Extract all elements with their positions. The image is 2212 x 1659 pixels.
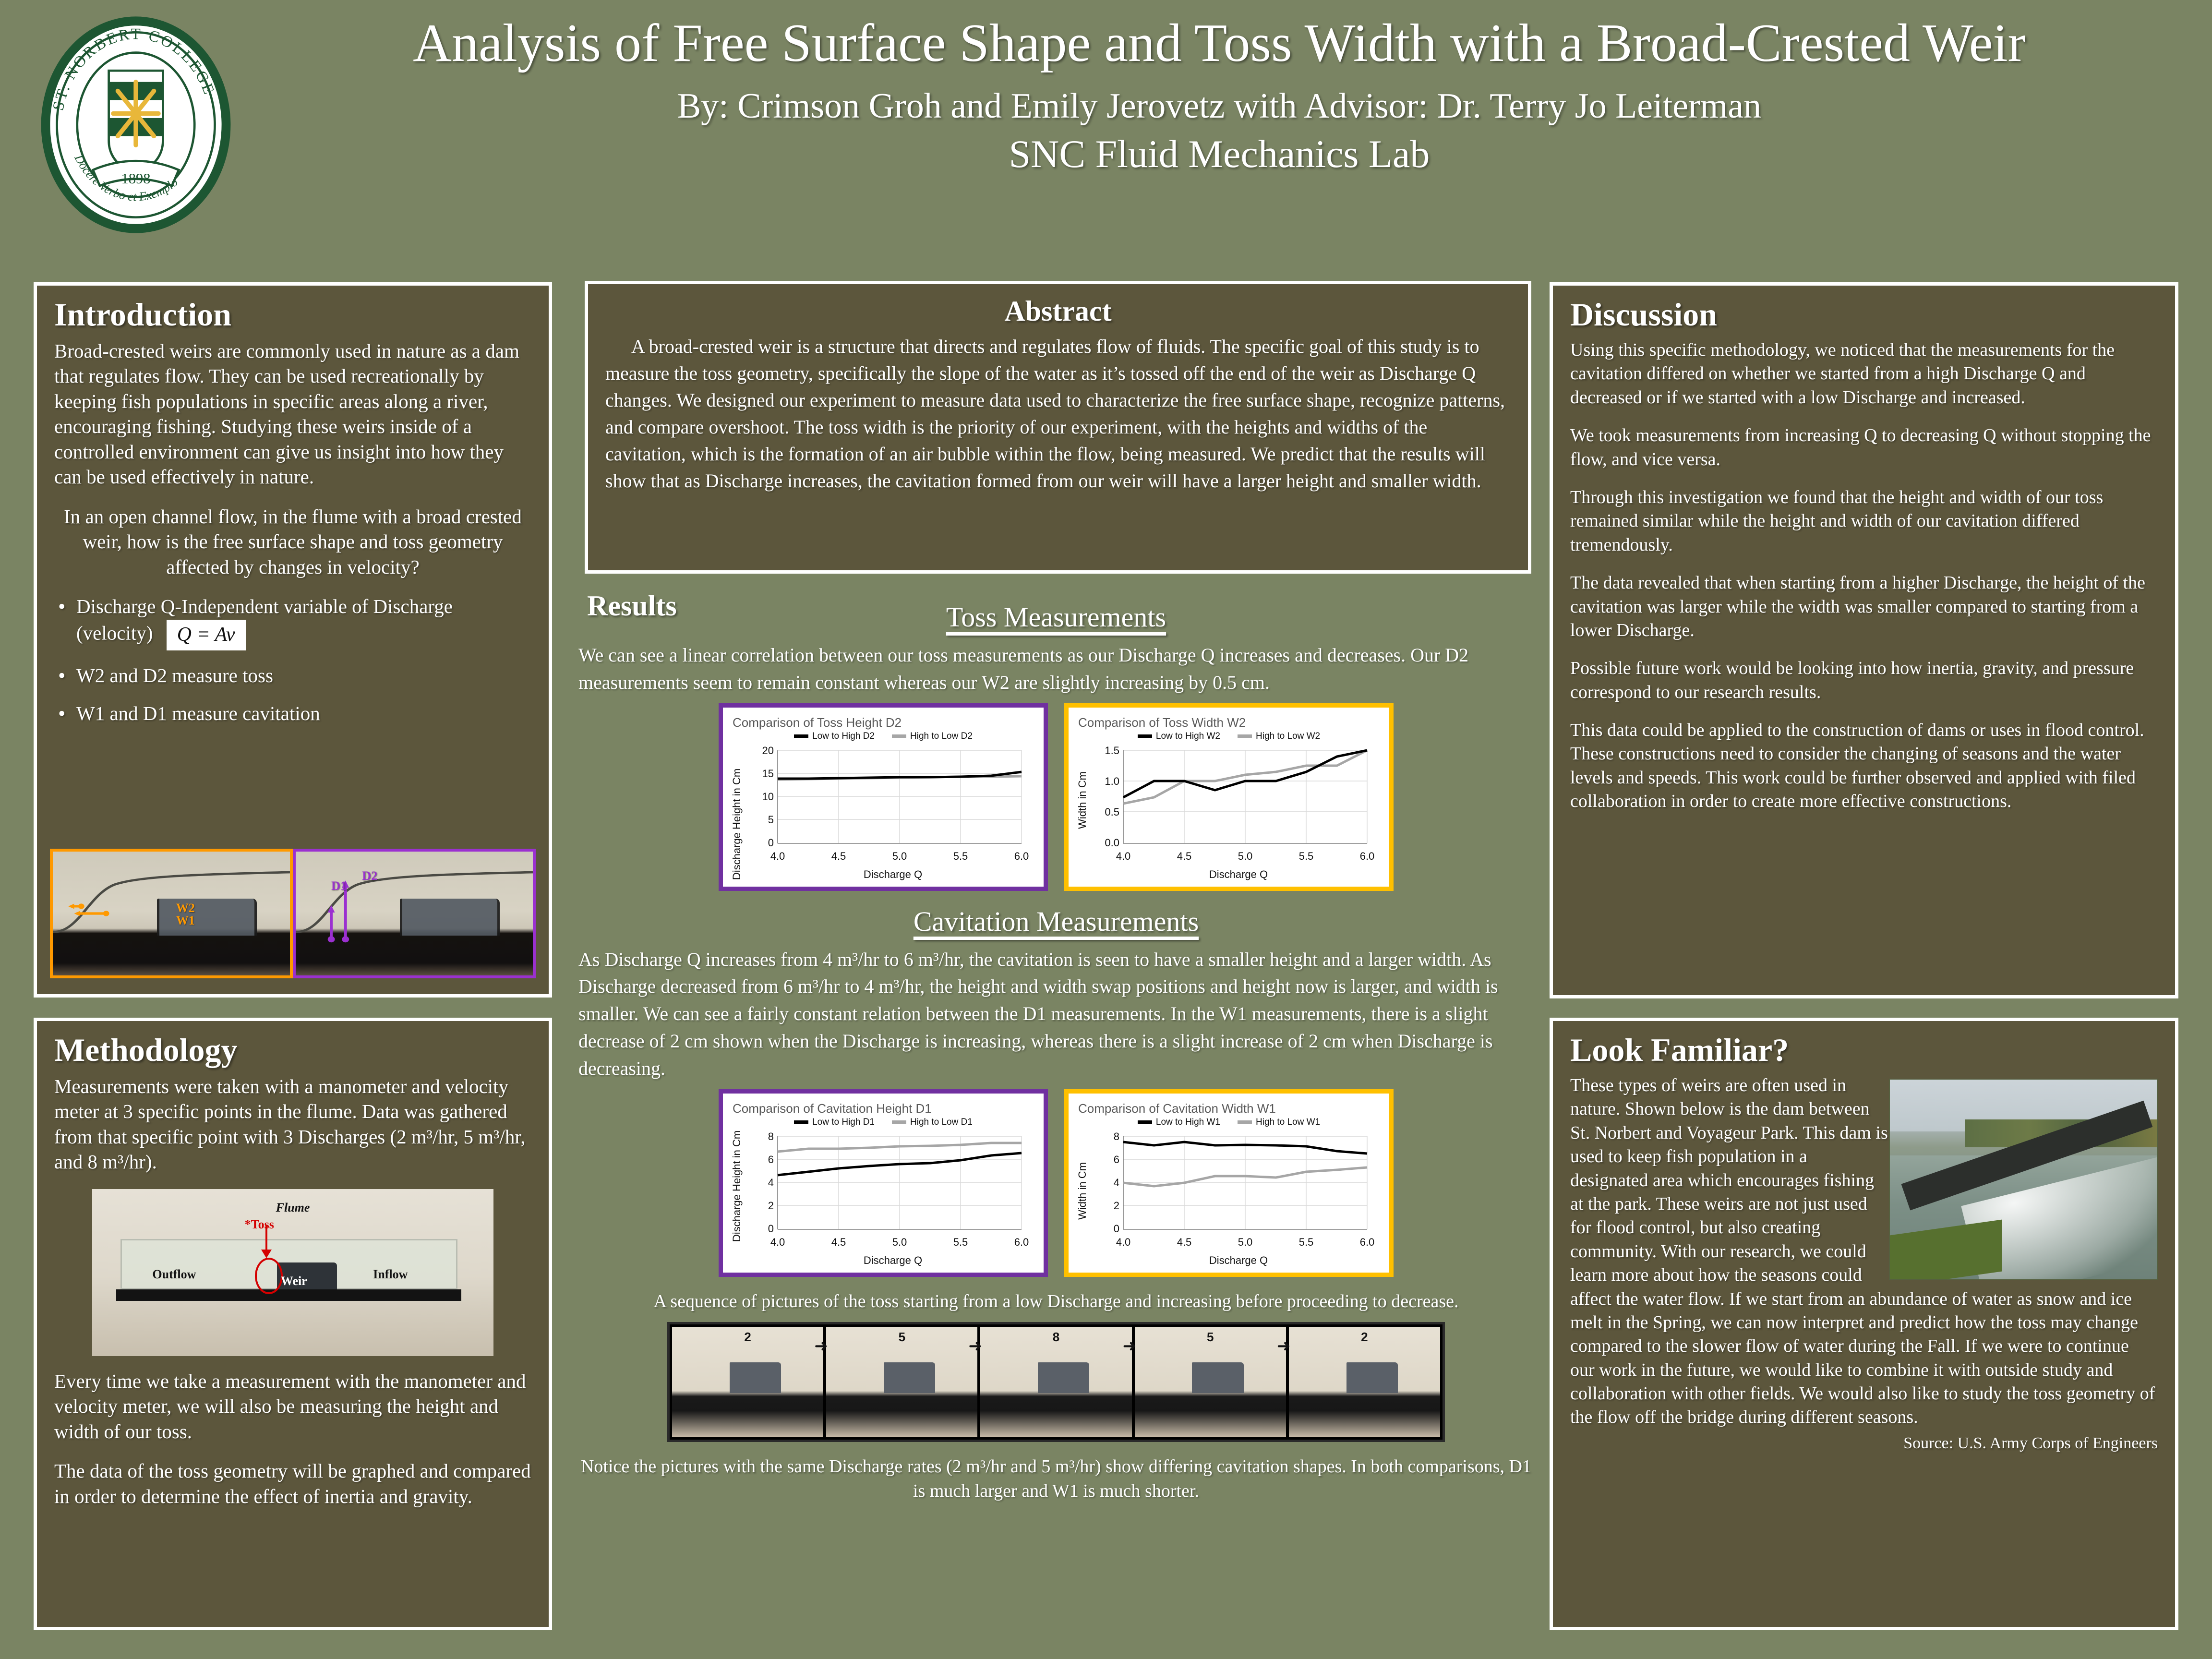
photo-strip-caption-bottom: Notice the pictures with the same Discha… bbox=[578, 1455, 1534, 1503]
discussion-panel: Discussion Using this specific methodolo… bbox=[1550, 282, 2178, 998]
chart-plot-area: Discharge Height in Cm Discharge Q 20 15… bbox=[730, 743, 1037, 882]
chart-toss-height-d2: Comparison of Toss Height D2 Low to High… bbox=[719, 703, 1048, 891]
strip-frame-discharge: 8 bbox=[1053, 1330, 1059, 1345]
weir-photo-height-annotated: D1 D2 bbox=[293, 849, 536, 978]
x-tick-50: 5.0 bbox=[1238, 850, 1253, 862]
legend-swatch-gray bbox=[892, 734, 906, 738]
legend-swatch-gray bbox=[892, 1120, 906, 1124]
legend-label: High to Low D2 bbox=[910, 731, 973, 741]
y-tick-0: 0 bbox=[768, 1223, 774, 1235]
results-label: Results bbox=[587, 589, 677, 623]
page-title: Analysis of Free Surface Shape and Toss … bbox=[269, 14, 2170, 72]
chart-cavitation-width-w1: Comparison of Cavitation Width W1 Low to… bbox=[1064, 1089, 1394, 1277]
college-seal-icon: 1898 ST. NORBERT COLLEGE Docere Verbo et… bbox=[23, 12, 249, 238]
width-arrow-annotations bbox=[53, 852, 290, 975]
chart-legend: Low to High W2 High to Low W2 bbox=[1075, 731, 1382, 742]
discussion-paragraph-6: This data could be applied to the constr… bbox=[1570, 719, 2158, 814]
methodology-heading: Methodology bbox=[54, 1034, 531, 1066]
toss-measurements-heading: Toss Measurements bbox=[578, 601, 1534, 633]
legend-item-low-to-high: Low to High D1 bbox=[794, 1117, 875, 1128]
arrow-right-icon: ➜ bbox=[1277, 1336, 1291, 1356]
toss-sequence-photo-strip: 2 ➜ 5 ➜ 8 ➜ 5 bbox=[667, 1322, 1445, 1442]
discharge-equation: Q = Av bbox=[167, 620, 246, 651]
abstract-panel: Abstract A broad-crested weir is a struc… bbox=[585, 281, 1531, 574]
flume-apparatus-photo: Flume *Toss Outflow Inflow Weir bbox=[92, 1189, 493, 1356]
y-tick-5: 5 bbox=[768, 814, 774, 826]
strip-frame-discharge: 5 bbox=[899, 1330, 905, 1345]
x-tick-50: 5.0 bbox=[892, 1236, 907, 1248]
introduction-heading: Introduction bbox=[54, 298, 531, 331]
look-familiar-panel: Look Familiar? These types of weirs are … bbox=[1550, 1018, 2178, 1630]
strip-frame: 8 bbox=[980, 1327, 1131, 1437]
x-tick-40: 4.0 bbox=[770, 1236, 785, 1248]
legend-item-high-to-low: High to Low D1 bbox=[892, 1117, 973, 1128]
chart-title: Comparison of Toss Width W2 bbox=[1078, 715, 1382, 730]
legend-item-low-to-high: Low to High D2 bbox=[794, 731, 875, 742]
y-tick-10: 1.0 bbox=[1105, 775, 1119, 787]
inflow-label: Inflow bbox=[373, 1267, 408, 1282]
lab-line: SNC Fluid Mechanics Lab bbox=[269, 132, 2170, 176]
arrow-right-icon: ➜ bbox=[814, 1336, 828, 1356]
outflow-label: Outflow bbox=[152, 1267, 196, 1282]
weir-block-shape bbox=[730, 1362, 781, 1393]
abstract-heading: Abstract bbox=[605, 297, 1511, 325]
y-tick-6: 6 bbox=[768, 1154, 774, 1166]
bullet-cavitation-measure: W1 and D1 measure cavitation bbox=[54, 701, 531, 726]
height-arrow-annotations bbox=[296, 852, 533, 975]
weir-block-shape bbox=[1192, 1362, 1243, 1393]
legend-item-high-to-low: High to Low W1 bbox=[1238, 1117, 1320, 1128]
poster-header: 1898 ST. NORBERT COLLEGE Docere Verbo et… bbox=[0, 0, 2212, 254]
chart-toss-width-w2: Comparison of Toss Width W2 Low to High … bbox=[1064, 703, 1394, 891]
legend-swatch-black bbox=[794, 734, 808, 738]
methodology-paragraph-2: Every time we take a measurement with th… bbox=[54, 1369, 531, 1444]
x-tick-50: 5.0 bbox=[892, 850, 907, 862]
discussion-paragraph-5: Possible future work would be looking in… bbox=[1570, 657, 2158, 704]
strip-frame-discharge: 5 bbox=[1207, 1330, 1214, 1345]
title-block: Analysis of Free Surface Shape and Toss … bbox=[269, 14, 2170, 176]
y-tick-6: 6 bbox=[1114, 1154, 1119, 1166]
arrow-right-icon: ➜ bbox=[968, 1336, 982, 1356]
methodology-panel: Methodology Measurements were taken with… bbox=[34, 1018, 552, 1630]
legend-label: Low to High D1 bbox=[812, 1117, 875, 1127]
photo-source-caption: Source: U.S. Army Corps of Engineers bbox=[1570, 1434, 2158, 1453]
chart-cavitation-height-d1: Comparison of Cavitation Height D1 Low t… bbox=[719, 1089, 1048, 1277]
x-tick-40: 4.0 bbox=[1116, 850, 1131, 862]
y-tick-4: 4 bbox=[768, 1177, 774, 1189]
chart-plot-area: Width in Cm Discharge Q 1.5 1.0 0.5 0.0 … bbox=[1075, 743, 1382, 882]
legend-item-low-to-high: Low to High W2 bbox=[1138, 731, 1220, 742]
legend-label: High to Low W2 bbox=[1256, 731, 1320, 741]
introduction-paragraph-1: Broad-crested weirs are commonly used in… bbox=[54, 338, 531, 490]
look-familiar-heading: Look Familiar? bbox=[1570, 1034, 2158, 1066]
discussion-paragraph-2: We took measurements from increasing Q t… bbox=[1570, 424, 2158, 471]
poster-canvas: 1898 ST. NORBERT COLLEGE Docere Verbo et… bbox=[0, 0, 2212, 1659]
weir-photo-width-annotated: W2 W1 bbox=[50, 849, 293, 978]
label-w1: W1 bbox=[176, 914, 195, 928]
legend-swatch-black bbox=[1138, 1120, 1152, 1124]
abstract-body: A broad-crested weir is a structure that… bbox=[605, 333, 1511, 494]
chart-title: Comparison of Cavitation Width W1 bbox=[1078, 1101, 1382, 1116]
weir-block-shape bbox=[1346, 1362, 1398, 1393]
dam-photograph bbox=[1889, 1079, 2158, 1280]
y-tick-15: 15 bbox=[762, 768, 774, 780]
x-tick-60: 6.0 bbox=[1014, 1236, 1029, 1248]
cavitation-chart-row: Comparison of Cavitation Height D1 Low t… bbox=[578, 1089, 1534, 1277]
chart-legend: Low to High W1 High to Low W1 bbox=[1075, 1117, 1382, 1128]
weir-block-shape bbox=[1038, 1362, 1089, 1393]
toss-measurements-body: We can see a linear correlation between … bbox=[578, 642, 1534, 697]
toss-label: *Toss bbox=[245, 1217, 274, 1232]
x-tick-55: 5.5 bbox=[953, 1236, 968, 1248]
strip-frame-discharge: 2 bbox=[744, 1330, 751, 1345]
legend-label: High to Low D1 bbox=[910, 1117, 973, 1127]
x-axis-label-2: Discharge Q bbox=[864, 1254, 922, 1266]
svg-text:1898: 1898 bbox=[121, 170, 150, 187]
y-tick-8: 8 bbox=[1114, 1130, 1119, 1142]
discussion-paragraph-3: Through this investigation we found that… bbox=[1570, 486, 2158, 557]
y-tick-2: 2 bbox=[1114, 1200, 1119, 1212]
weir-annotated-photo-pair: W2 W1 D1 D2 bbox=[50, 849, 536, 978]
flume-label: Flume bbox=[276, 1201, 310, 1215]
legend-item-low-to-high: Low to High W1 bbox=[1138, 1117, 1220, 1128]
x-tick-45: 4.5 bbox=[1177, 850, 1192, 862]
legend-swatch-black bbox=[794, 1120, 808, 1124]
introduction-paragraph-2: In an open channel flow, in the flume wi… bbox=[54, 504, 531, 579]
bullet-velocity-text: (velocity) bbox=[76, 622, 153, 644]
bullet-discharge: Discharge Q-Independent variable of Disc… bbox=[54, 594, 531, 650]
x-tick-50: 5.0 bbox=[1238, 1236, 1253, 1248]
y-tick-05: 0.5 bbox=[1105, 806, 1119, 818]
strip-frame-discharge: 2 bbox=[1361, 1330, 1368, 1345]
chart-legend: Low to High D1 High to Low D1 bbox=[730, 1117, 1037, 1128]
x-tick-40: 4.0 bbox=[1116, 1236, 1131, 1248]
legend-label: High to Low W1 bbox=[1256, 1117, 1320, 1127]
introduction-bullet-list: Discharge Q-Independent variable of Disc… bbox=[54, 594, 531, 726]
photo-strip-caption-top: A sequence of pictures of the toss start… bbox=[578, 1289, 1534, 1314]
bullet-toss-measure: W2 and D2 measure toss bbox=[54, 663, 531, 688]
results-section: Results Toss Measurements We can see a l… bbox=[578, 589, 1534, 1653]
methodology-paragraph-3: The data of the toss geometry will be gr… bbox=[54, 1458, 531, 1509]
x-tick-60: 6.0 bbox=[1360, 850, 1375, 862]
x-axis-label-3: Discharge Q bbox=[1209, 1254, 1268, 1266]
legend-item-high-to-low: High to Low D2 bbox=[892, 731, 973, 742]
x-axis-label-1: Discharge Q bbox=[1209, 868, 1268, 880]
chart-legend: Low to High D2 High to Low D2 bbox=[730, 731, 1037, 742]
strip-frame: 5 bbox=[826, 1327, 977, 1437]
y-tick-0: 0 bbox=[768, 837, 774, 849]
legend-label: Low to High W1 bbox=[1156, 1117, 1220, 1127]
discussion-heading: Discussion bbox=[1570, 298, 2158, 331]
x-tick-55: 5.5 bbox=[1299, 1236, 1314, 1248]
y-axis-label-3: Width in Cm bbox=[1076, 1162, 1088, 1220]
legend-label: Low to High D2 bbox=[812, 731, 875, 741]
x-tick-45: 4.5 bbox=[1177, 1236, 1192, 1248]
y-axis-label-0: Discharge Height in Cm bbox=[731, 768, 743, 879]
y-axis-label-1: Width in Cm bbox=[1076, 771, 1088, 829]
x-tick-40: 4.0 bbox=[770, 850, 785, 862]
bullet-discharge-text: Discharge Q-Independent variable of Disc… bbox=[76, 595, 453, 617]
x-tick-45: 4.5 bbox=[831, 850, 846, 862]
chart-title: Comparison of Cavitation Height D1 bbox=[733, 1101, 1037, 1116]
y-tick-15: 1.5 bbox=[1105, 745, 1119, 757]
legend-swatch-gray bbox=[1238, 1120, 1252, 1124]
x-axis-label-0: Discharge Q bbox=[864, 868, 922, 880]
strip-frame: 2 bbox=[672, 1327, 823, 1437]
label-d2: D2 bbox=[362, 869, 377, 883]
x-tick-60: 6.0 bbox=[1360, 1236, 1375, 1248]
discussion-paragraph-4: The data revealed that when starting fro… bbox=[1570, 571, 2158, 642]
y-tick-20: 20 bbox=[762, 745, 774, 757]
x-tick-55: 5.5 bbox=[953, 850, 968, 862]
discussion-paragraph-1: Using this specific methodology, we noti… bbox=[1570, 338, 2158, 409]
chart-plot-area: Width in Cm Discharge Q 8 6 4 2 0 4.0 4.… bbox=[1075, 1129, 1382, 1268]
legend-swatch-gray bbox=[1238, 734, 1252, 738]
flume-rail-shape bbox=[116, 1289, 461, 1301]
y-tick-2: 2 bbox=[768, 1200, 774, 1212]
y-tick-00: 0.0 bbox=[1105, 837, 1119, 849]
methodology-paragraph-1: Measurements were taken with a manometer… bbox=[54, 1074, 531, 1175]
arrow-right-icon: ➜ bbox=[1123, 1336, 1137, 1356]
label-d1: D1 bbox=[331, 879, 347, 893]
authors-line: By: Crimson Groh and Emily Jerovetz with… bbox=[269, 87, 2170, 126]
chart-title: Comparison of Toss Height D2 bbox=[733, 715, 1037, 730]
y-tick-8: 8 bbox=[768, 1130, 774, 1142]
x-tick-60: 6.0 bbox=[1014, 850, 1029, 862]
y-tick-0: 0 bbox=[1114, 1223, 1119, 1235]
y-tick-10: 10 bbox=[762, 791, 774, 803]
chart-plot-area: Discharge Height in Cm Discharge Q 8 6 4… bbox=[730, 1129, 1037, 1268]
legend-item-high-to-low: High to Low W2 bbox=[1238, 731, 1320, 742]
cavitation-measurements-heading: Cavitation Measurements bbox=[578, 905, 1534, 938]
legend-label: Low to High W2 bbox=[1156, 731, 1220, 741]
strip-frame: 5 bbox=[1135, 1327, 1286, 1437]
toss-highlight-ellipse bbox=[255, 1258, 283, 1295]
strip-frame: 2 bbox=[1289, 1327, 1440, 1437]
legend-swatch-black bbox=[1138, 734, 1152, 738]
y-axis-label-2: Discharge Height in Cm bbox=[731, 1130, 743, 1241]
y-tick-4: 4 bbox=[1114, 1177, 1119, 1189]
x-tick-55: 5.5 bbox=[1299, 850, 1314, 862]
weir-block-shape bbox=[884, 1362, 935, 1393]
toss-chart-row: Comparison of Toss Height D2 Low to High… bbox=[578, 703, 1534, 891]
x-tick-45: 4.5 bbox=[831, 1236, 846, 1248]
weir-label: Weir bbox=[281, 1274, 307, 1288]
cavitation-measurements-body: As Discharge Q increases from 4 m³/hr to… bbox=[578, 946, 1534, 1082]
